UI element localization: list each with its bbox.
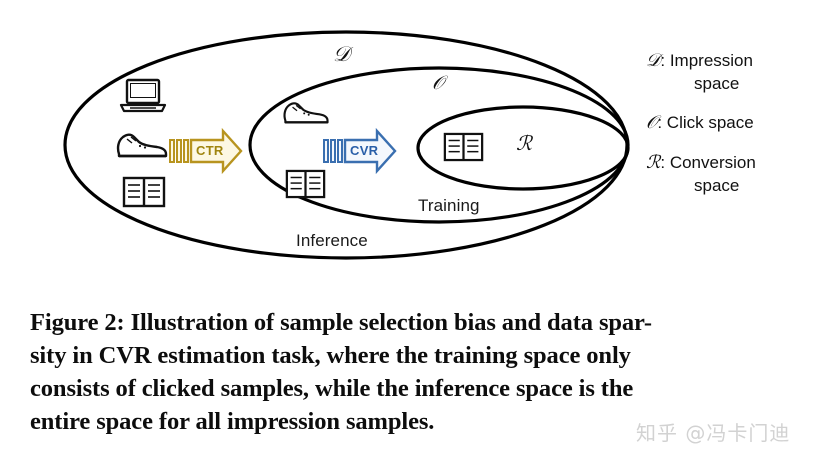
- open-book-icon: [443, 131, 484, 168]
- open-book-icon: [122, 175, 166, 214]
- legend-conversion-first-line: ℛ: Conversion: [646, 152, 832, 175]
- region-label-inference: Inference: [296, 231, 368, 251]
- open-book-icon: [285, 168, 326, 205]
- figure-page: 𝒟 𝒪 ℛ Training Inference CTR CVR: [0, 0, 840, 462]
- laptop-icon: [118, 78, 168, 121]
- region-label-training: Training: [418, 196, 480, 216]
- legend-conversion-text: : Conversion: [660, 153, 755, 172]
- legend-symbol-click: 𝒪: [646, 112, 657, 133]
- legend-symbol-conversion: ℛ: [646, 152, 660, 173]
- ctr-arrow-label: CTR: [196, 143, 224, 158]
- venn-diagram-figure: 𝒟 𝒪 ℛ Training Inference CTR CVR: [0, 0, 840, 290]
- shoe-icon: [280, 97, 332, 133]
- set-label-click: 𝒪: [432, 74, 444, 93]
- legend-impression-first-line: 𝒟: Impression: [646, 50, 832, 73]
- shoe-icon: [113, 128, 171, 167]
- caption-line: consists of clicked samples, while the i…: [30, 372, 820, 405]
- ctr-arrow: CTR: [168, 128, 244, 181]
- cvr-arrow-label: CVR: [350, 143, 378, 158]
- legend-impression-second-line: space: [646, 73, 832, 94]
- legend-entry-conversion: ℛ: Conversion space: [646, 152, 832, 196]
- legend-click-first-line: 𝒪: Click space: [646, 112, 832, 135]
- legend-conversion-second-line: space: [646, 175, 832, 196]
- caption-line: Figure 2: Illustration of sample selecti…: [30, 306, 820, 339]
- caption-line: sity in CVR estimation task, where the t…: [30, 339, 820, 372]
- legend-entry-click: 𝒪: Click space: [646, 112, 832, 135]
- legend: 𝒟: Impression space 𝒪: Click space ℛ: Co…: [646, 50, 832, 214]
- legend-impression-text: : Impression: [660, 51, 753, 70]
- set-label-impression: 𝒟: [333, 44, 350, 65]
- watermark: 知乎 @冯卡门迪: [636, 417, 790, 446]
- legend-symbol-impression: 𝒟: [646, 50, 660, 71]
- legend-entry-impression: 𝒟: Impression space: [646, 50, 832, 94]
- legend-click-text: : Click space: [657, 113, 753, 132]
- cvr-arrow: CVR: [322, 128, 398, 181]
- set-label-conversion: ℛ: [516, 133, 532, 153]
